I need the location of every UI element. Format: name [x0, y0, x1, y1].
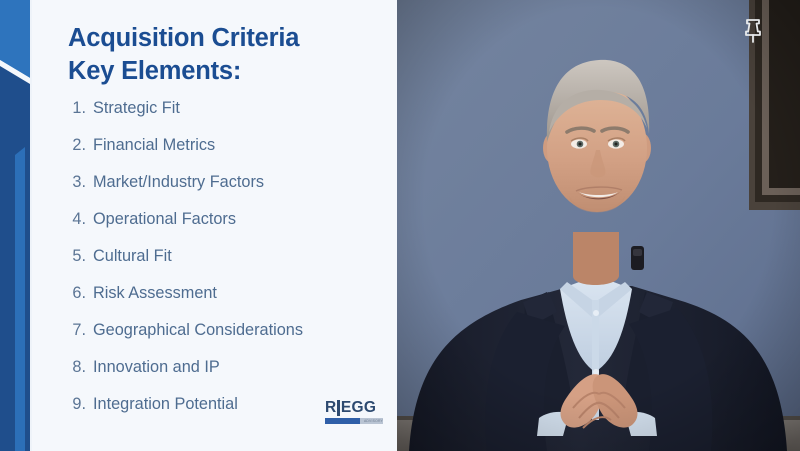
- list-item: 1.Strategic Fit: [64, 100, 394, 137]
- list-item-label: Market/Industry Factors: [93, 174, 264, 190]
- page-title: Acquisition Criteria Key Elements:: [68, 22, 388, 87]
- list-item: 4.Operational Factors: [64, 211, 394, 248]
- riegg-logo: R EGG ADVISORY: [325, 400, 383, 424]
- list-item-number: 1.: [64, 100, 86, 116]
- slide-panel: Acquisition Criteria Key Elements: 1.Str…: [0, 0, 397, 451]
- riegg-subtext: ADVISORY: [364, 420, 383, 423]
- presentation-screenshot: Acquisition Criteria Key Elements: 1.Str…: [0, 0, 800, 451]
- riegg-wordmark: R EGG: [325, 400, 383, 415]
- riegg-word-part1: R: [325, 400, 337, 416]
- list-item-number: 6.: [64, 285, 86, 301]
- list-item-number: 2.: [64, 137, 86, 153]
- list-item-label: Risk Assessment: [93, 285, 217, 301]
- list-item-label: Strategic Fit: [93, 100, 180, 116]
- speaker-video-feed[interactable]: [397, 0, 800, 451]
- list-item: 8.Innovation and IP: [64, 359, 394, 396]
- list-item: 2.Financial Metrics: [64, 137, 394, 174]
- pushpin-icon[interactable]: [742, 18, 764, 44]
- list-item-number: 9.: [64, 396, 86, 412]
- key-elements-list: 1.Strategic Fit2.Financial Metrics3.Mark…: [64, 100, 394, 433]
- list-item-number: 8.: [64, 359, 86, 375]
- list-item-number: 5.: [64, 248, 86, 264]
- riegg-divider-bar: [337, 400, 340, 416]
- list-item: 7.Geographical Considerations: [64, 322, 394, 359]
- decorative-blue-accent-graphic: [0, 0, 46, 451]
- title-line-1: Acquisition Criteria: [68, 22, 388, 55]
- title-line-2: Key Elements:: [68, 55, 388, 88]
- riegg-word-part2: EGG: [341, 400, 376, 416]
- list-item-label: Integration Potential: [93, 396, 238, 412]
- list-item-label: Innovation and IP: [93, 359, 220, 375]
- list-item-number: 3.: [64, 174, 86, 190]
- list-item-label: Cultural Fit: [93, 248, 172, 264]
- speaker-portrait-image: [397, 0, 800, 451]
- list-item: 6.Risk Assessment: [64, 285, 394, 322]
- list-item-label: Geographical Considerations: [93, 322, 303, 338]
- riegg-underline-bar: ADVISORY: [325, 418, 383, 424]
- list-item-label: Operational Factors: [93, 211, 236, 227]
- list-item-number: 4.: [64, 211, 86, 227]
- list-item-label: Financial Metrics: [93, 137, 215, 153]
- list-item: 3.Market/Industry Factors: [64, 174, 394, 211]
- list-item: 5.Cultural Fit: [64, 248, 394, 285]
- list-item-number: 7.: [64, 322, 86, 338]
